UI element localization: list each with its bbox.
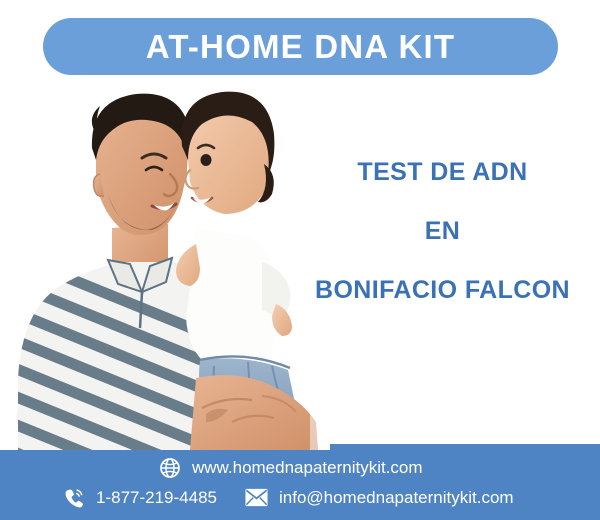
footer-contact-rows: www.homednapaternitykit.com 1-877-219-44… — [0, 444, 600, 520]
footer-row-phone-email: 1-877-219-4485 info@homednapaternitykit.… — [62, 486, 514, 509]
headline-line-2: EN — [300, 219, 585, 244]
phone-text: 1-877-219-4485 — [96, 489, 217, 506]
envelope-icon — [245, 486, 268, 509]
email-contact[interactable]: info@homednapaternitykit.com — [245, 486, 514, 509]
footer-row-website: www.homednapaternitykit.com — [158, 456, 423, 479]
family-photo-illustration — [0, 78, 330, 450]
headline-block: TEST DE ADN EN BONIFACIO FALCON — [300, 160, 585, 303]
globe-icon — [158, 456, 181, 479]
poster-canvas: AT-HOME DNA KIT TEST DE ADN EN BONIFACIO… — [0, 0, 600, 520]
email-text: info@homednapaternitykit.com — [279, 489, 514, 506]
headline-line-1: TEST DE ADN — [300, 160, 585, 185]
phone-contact[interactable]: 1-877-219-4485 — [62, 486, 217, 509]
family-photo — [0, 78, 330, 450]
website-text: www.homednapaternitykit.com — [192, 459, 423, 476]
website-contact[interactable]: www.homednapaternitykit.com — [158, 456, 423, 479]
headline-line-3: BONIFACIO FALCON — [300, 278, 585, 303]
header-banner: AT-HOME DNA KIT — [43, 18, 558, 75]
page-title: AT-HOME DNA KIT — [146, 30, 455, 63]
phone-icon — [62, 486, 85, 509]
